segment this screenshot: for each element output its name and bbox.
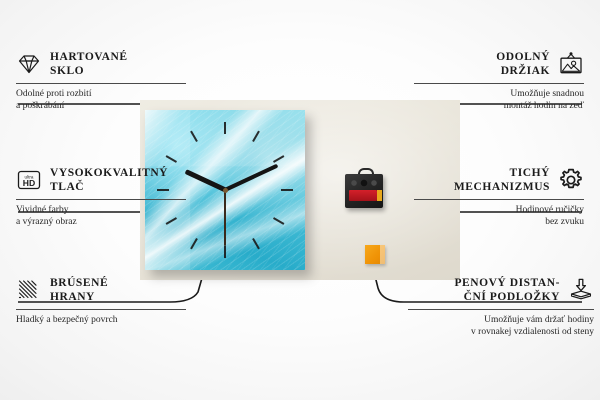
- foam-spacer-icon: [568, 277, 594, 303]
- feature-heading: BRÚSENÉ HRANY: [16, 276, 186, 305]
- clock-tick: [224, 246, 226, 258]
- brushed-edges-icon: [16, 277, 42, 303]
- divider: [16, 199, 186, 200]
- product-photo: [140, 100, 460, 280]
- feature-description: Umožňuje vám držať hodiny v rovnakej vzd…: [408, 314, 594, 339]
- clock-tick: [281, 189, 293, 191]
- clock-tick: [224, 122, 226, 134]
- divider: [414, 199, 584, 200]
- second-hand: [224, 190, 226, 246]
- feature-description: Vividné farby a výrazný obraz: [16, 204, 186, 229]
- feature-description: Hodinové ručičky bez zvuku: [414, 204, 584, 229]
- feature-heading: TICHÝ MECHANIZMUS: [414, 166, 584, 195]
- picture-hanger-icon: [558, 51, 584, 77]
- hand-center-cap: [223, 188, 228, 193]
- mechanism-battery: [349, 190, 377, 201]
- divider: [414, 83, 584, 84]
- feature-silent-mechanism: TICHÝ MECHANIZMUS Hodinové ručičky bez z…: [414, 166, 584, 229]
- ultra-hd-icon: ultra HD: [16, 167, 42, 193]
- feature-foam-spacers: PENOVÝ DISTAN- ČNÍ PODLOŽKY Umožňuje vám…: [408, 276, 594, 339]
- divider: [16, 83, 186, 84]
- feature-title: VYSOKOKVALITNÝ TLAČ: [50, 166, 168, 195]
- feature-title: TICHÝ MECHANIZMUS: [454, 166, 550, 195]
- feature-title: BRÚSENÉ HRANY: [50, 276, 108, 305]
- diamond-icon: [16, 51, 42, 77]
- feature-title: PENOVÝ DISTAN- ČNÍ PODLOŽKY: [454, 276, 560, 305]
- foam-spacer-pad: [365, 245, 385, 264]
- feature-heading: ultra HD VYSOKOKVALITNÝ TLAČ: [16, 166, 186, 195]
- feature-description: Odolné proti rozbití a poškrábání: [16, 88, 186, 113]
- infographic-canvas: HARTOVANÉ SKLO Odolné proti rozbití a po…: [0, 0, 600, 400]
- battery-terminal: [377, 190, 382, 201]
- feature-brushed-edges: BRÚSENÉ HRANY Hladký a bezpečný povrch: [16, 276, 186, 326]
- feature-tempered-glass: HARTOVANÉ SKLO Odolné proti rozbití a po…: [16, 50, 186, 113]
- feature-heading: ODOLNÝ DRŽIAK: [414, 50, 584, 79]
- divider: [16, 309, 186, 310]
- feature-print-quality: ultra HD VYSOKOKVALITNÝ TLAČ Vividné far…: [16, 166, 186, 229]
- feature-heading: PENOVÝ DISTAN- ČNÍ PODLOŽKY: [408, 276, 594, 305]
- feature-heading: HARTOVANÉ SKLO: [16, 50, 186, 79]
- feature-description: Umožňuje snadnou montáž hodin na zeď: [414, 88, 584, 113]
- divider: [408, 309, 594, 310]
- feature-title: HARTOVANÉ SKLO: [50, 50, 128, 79]
- feature-durable-holder: ODOLNÝ DRŽIAK Umožňuje snadnou montáž ho…: [414, 50, 584, 113]
- clock-mechanism: [345, 168, 383, 208]
- gear-icon: [558, 167, 584, 193]
- mechanism-detail: [350, 179, 378, 188]
- feature-title: ODOLNÝ DRŽIAK: [496, 50, 550, 79]
- hd-label: HD: [23, 179, 35, 189]
- feature-description: Hladký a bezpečný povrch: [16, 314, 186, 327]
